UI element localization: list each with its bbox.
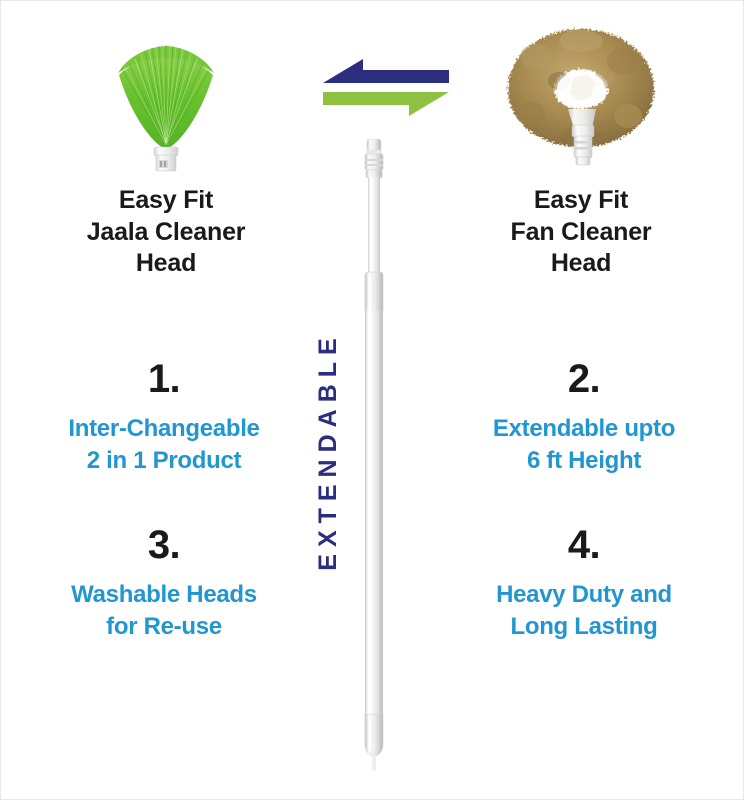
feature-4-line2: Long Lasting xyxy=(439,611,729,643)
arrow-right-icon xyxy=(323,92,449,116)
fan-head-artwork xyxy=(431,19,731,169)
feature-1-line1: Inter-Changeable xyxy=(19,413,309,445)
feature-item-2: 2. Extendable upto 6 ft Height xyxy=(439,359,729,478)
feature-1-number: 1. xyxy=(19,359,309,399)
jaala-caption-line3: Head xyxy=(16,248,316,280)
feature-2-line2: 6 ft Height xyxy=(439,445,729,477)
feature-2-number: 2. xyxy=(439,359,729,399)
feature-item-3: 3. Washable Heads for Re-use xyxy=(19,525,309,644)
extendable-vertical-label: EXTENDABLE xyxy=(314,301,346,601)
fan-caption-line1: Easy Fit xyxy=(431,185,731,217)
product-head-jaala: Easy Fit Jaala Cleaner Head xyxy=(16,19,316,280)
jaala-caption-line2: Jaala Cleaner xyxy=(16,217,316,249)
jaala-head-caption: Easy Fit Jaala Cleaner Head xyxy=(16,185,316,280)
product-head-fan: Easy Fit Fan Cleaner Head xyxy=(431,19,731,280)
product-infographic-poster: Easy Fit Jaala Cleaner Head xyxy=(0,0,744,800)
feature-3-line2: for Re-use xyxy=(19,611,309,643)
feature-4-number: 4. xyxy=(439,525,729,565)
brown-ring-duster-icon xyxy=(496,21,666,171)
feature-item-1: 1. Inter-Changeable 2 in 1 Product xyxy=(19,359,309,478)
feature-1-line2: 2 in 1 Product xyxy=(19,445,309,477)
feature-3-text: Washable Heads for Re-use xyxy=(19,579,309,644)
telescopic-pole-icon xyxy=(357,139,391,771)
feature-3-number: 3. xyxy=(19,525,309,565)
jaala-caption-line1: Easy Fit xyxy=(16,185,316,217)
arrow-left-icon xyxy=(323,59,449,83)
feature-4-line1: Heavy Duty and xyxy=(439,579,729,611)
green-broom-head-icon xyxy=(91,23,241,173)
fan-head-caption: Easy Fit Fan Cleaner Head xyxy=(431,185,731,280)
fan-caption-line3: Head xyxy=(431,248,731,280)
interchange-arrows xyxy=(323,53,449,119)
feature-4-text: Heavy Duty and Long Lasting xyxy=(439,579,729,644)
feature-3-line1: Washable Heads xyxy=(19,579,309,611)
feature-2-line1: Extendable upto xyxy=(439,413,729,445)
feature-1-text: Inter-Changeable 2 in 1 Product xyxy=(19,413,309,478)
feature-2-text: Extendable upto 6 ft Height xyxy=(439,413,729,478)
fan-caption-line2: Fan Cleaner xyxy=(431,217,731,249)
feature-item-4: 4. Heavy Duty and Long Lasting xyxy=(439,525,729,644)
jaala-head-artwork xyxy=(16,19,316,169)
